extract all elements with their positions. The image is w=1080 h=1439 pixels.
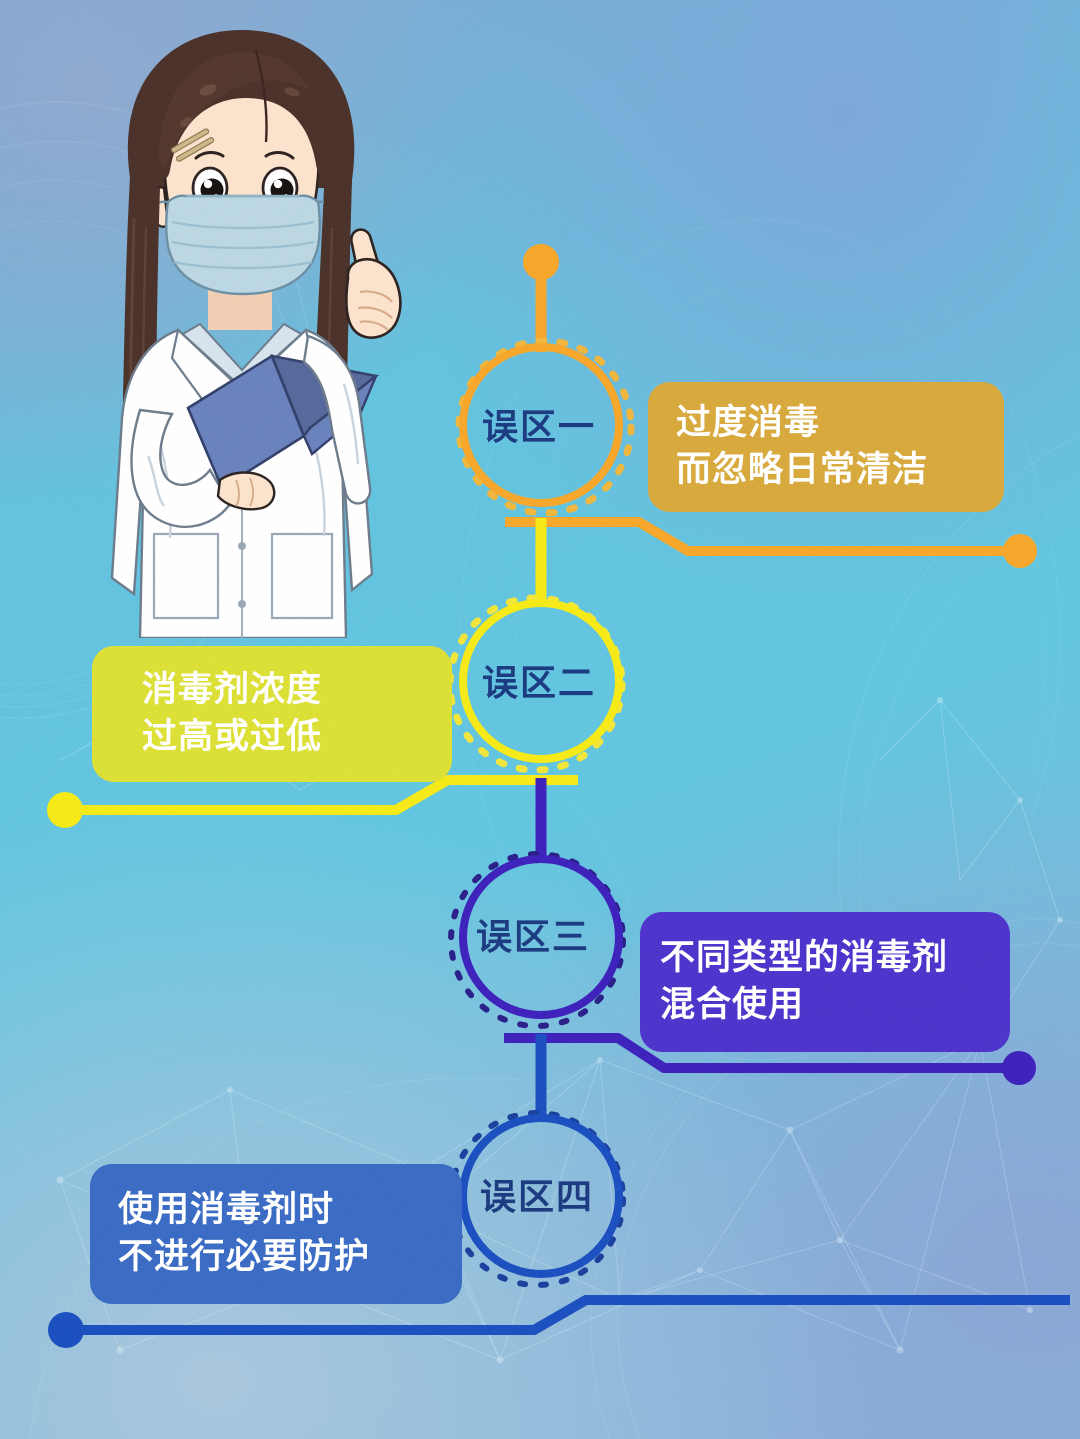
infographic-poster: 误区一 误区二 误区三 误区四 过度消毒 而忽略日常清洁 消毒剂浓度 过高或过低… [0, 0, 1080, 1439]
background-texture-overlay [0, 0, 1080, 1439]
